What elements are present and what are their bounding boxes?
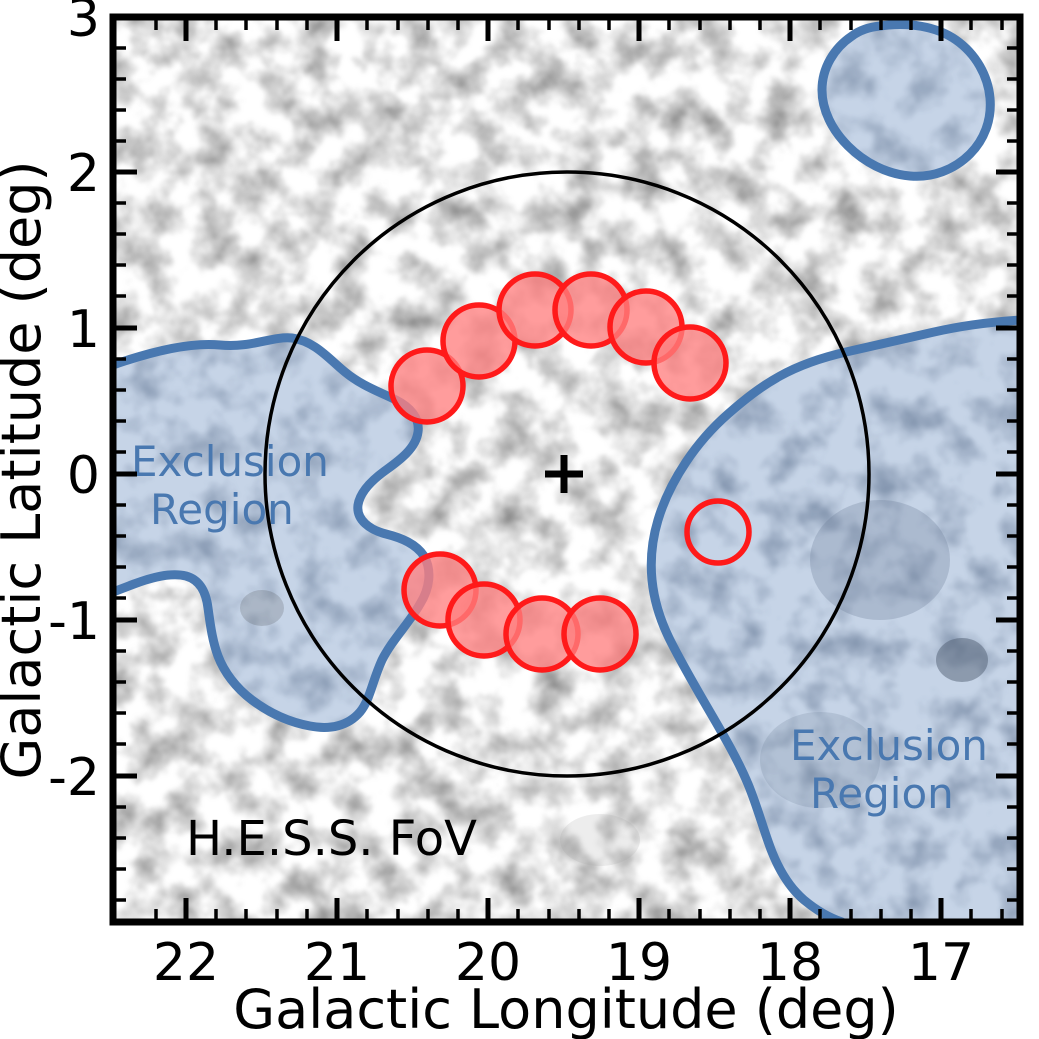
label-exclusion-right-line2: Region bbox=[810, 769, 954, 818]
label-hess-fov: H.E.S.S. FoV bbox=[186, 811, 477, 867]
off-region-used[interactable] bbox=[654, 327, 726, 399]
y-tick-label-m1: -1 bbox=[48, 592, 100, 652]
label-exclusion-left-line2: Region bbox=[150, 485, 294, 534]
plot-canvas: Exclusion Region Exclusion Region H.E.S.… bbox=[0, 0, 1039, 1039]
x-tick-label-22: 22 bbox=[153, 933, 219, 993]
x-axis-label: Galactic Longitude (deg) bbox=[233, 978, 898, 1039]
y-tick-label-1: 1 bbox=[67, 300, 100, 360]
label-exclusion-right-line1: Exclusion bbox=[790, 721, 988, 770]
label-exclusion-left-line1: Exclusion bbox=[131, 437, 329, 486]
y-tick-labels: 3 2 1 0 -1 -2 bbox=[48, 0, 100, 808]
y-tick-label-0: 0 bbox=[67, 446, 100, 506]
x-tick-label-17: 17 bbox=[908, 933, 974, 993]
sky-map-figure: Exclusion Region Exclusion Region H.E.S.… bbox=[0, 0, 1039, 1039]
y-tick-label-3: 3 bbox=[67, 0, 100, 49]
off-region-used[interactable] bbox=[564, 598, 636, 670]
y-tick-label-2: 2 bbox=[67, 144, 100, 204]
y-axis-label: Galactic Latitude (deg) bbox=[0, 160, 53, 779]
y-tick-label-m2: -2 bbox=[48, 748, 100, 808]
